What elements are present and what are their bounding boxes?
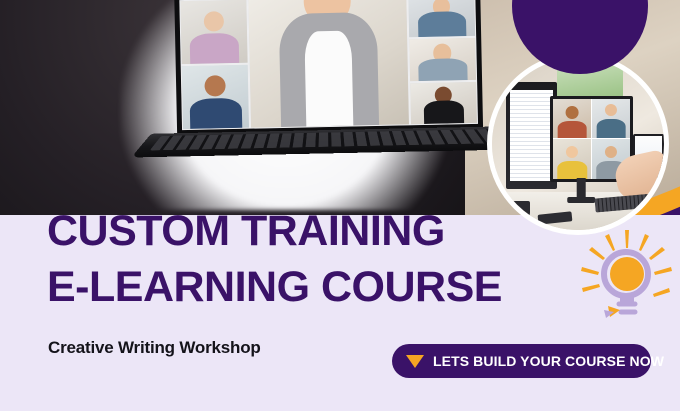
subtitle: Creative Writing Workshop <box>48 338 261 358</box>
desk-monitor-stand-base <box>568 197 596 203</box>
desk-mug <box>509 201 530 218</box>
desk-monitor-stand <box>577 178 586 199</box>
headline-line-2: E-LEARNING COURSE <box>47 259 502 315</box>
page-title: CUSTOM TRAINING E-LEARNING COURSE <box>47 203 502 315</box>
promo-banner: CUSTOM TRAINING E-LEARNING COURSE Creati… <box>0 0 680 411</box>
cta-button-label: LETS BUILD YOUR COURSE NOW <box>433 353 664 369</box>
desk-video-conference-photo <box>487 53 669 235</box>
desk-photo-inner <box>492 58 664 230</box>
cta-button[interactable]: LETS BUILD YOUR COURSE NOW <box>392 344 651 378</box>
triangle-down-icon <box>406 355 424 368</box>
headline-line-1: CUSTOM TRAINING <box>47 203 502 259</box>
lightbulb-icon <box>578 228 674 328</box>
